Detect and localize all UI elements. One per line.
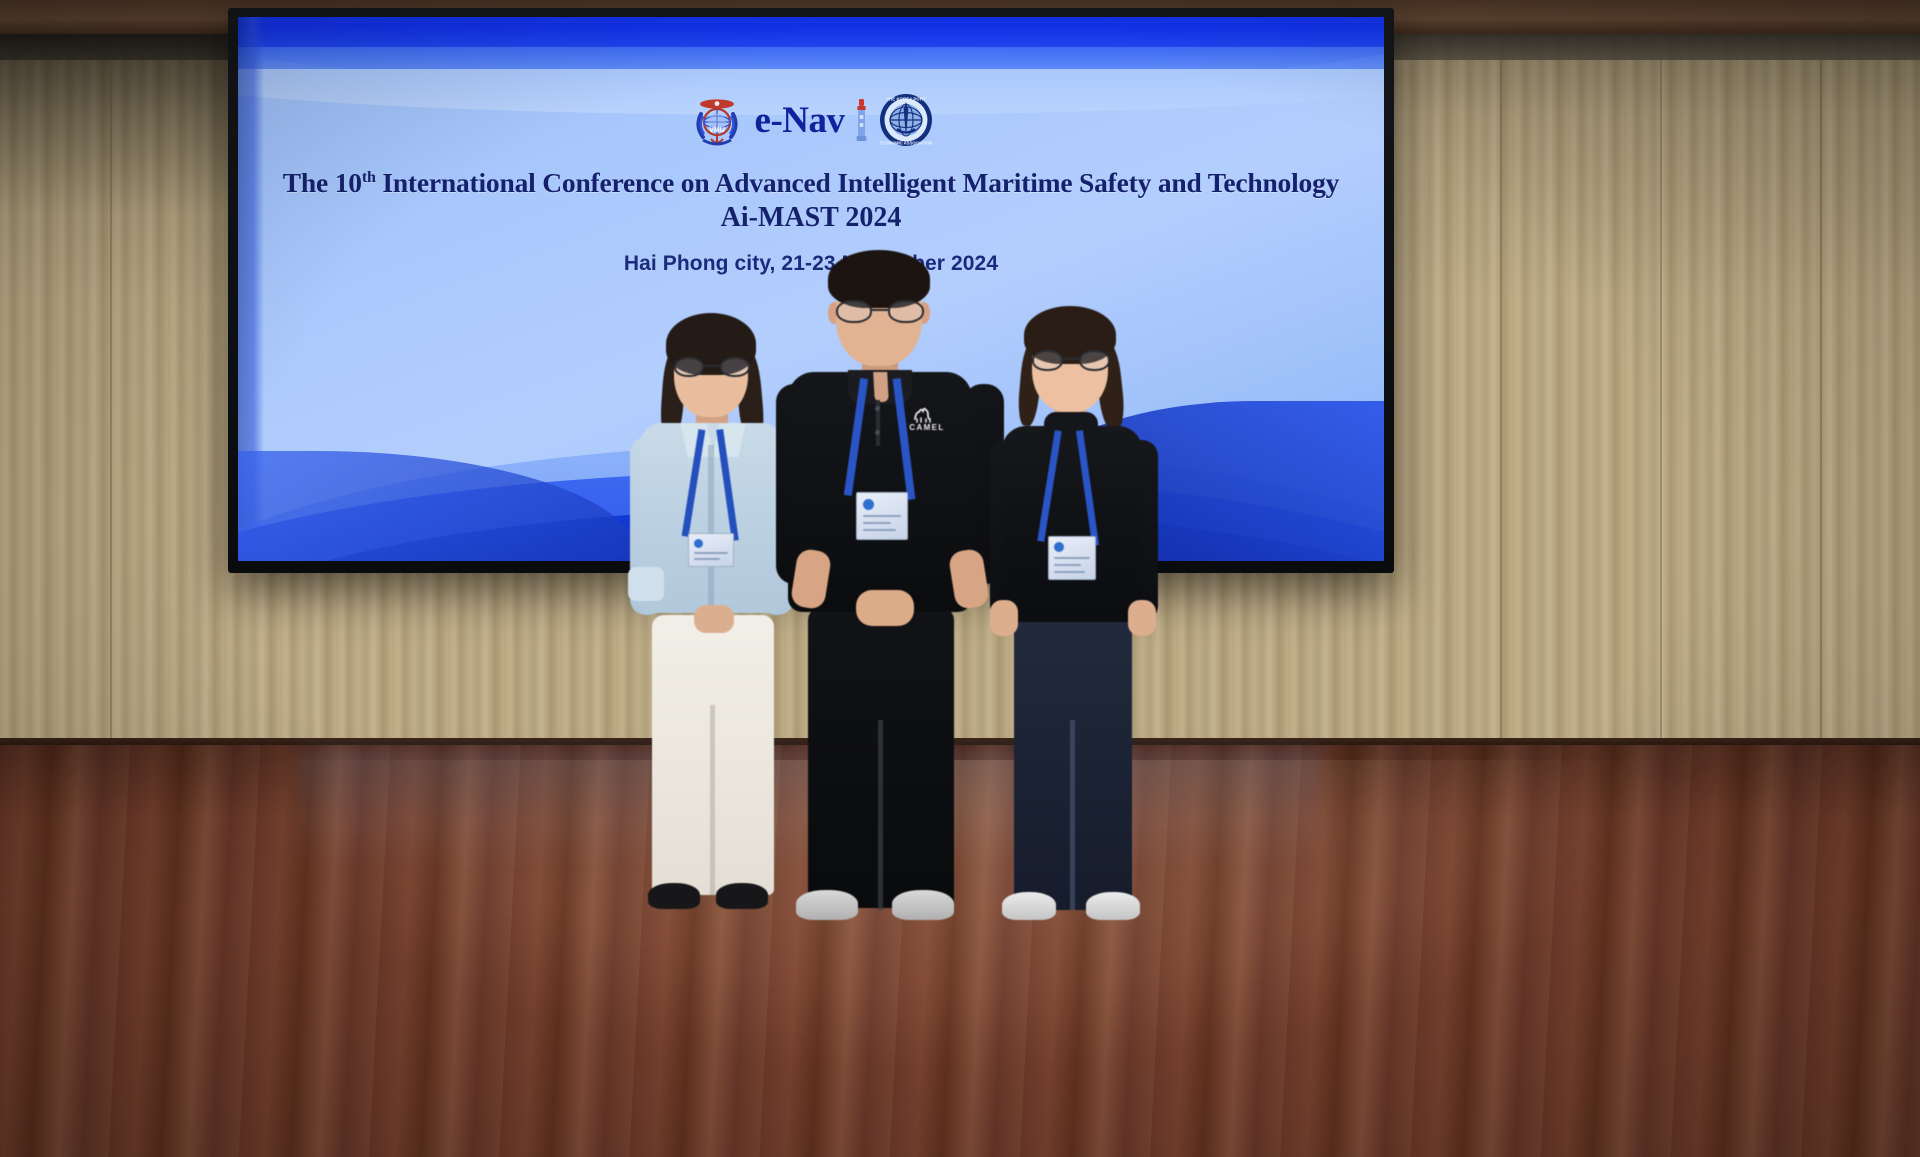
enav-wordmark: e-Nav — [755, 102, 845, 139]
lighthouse-icon — [854, 97, 869, 143]
glasses — [1032, 350, 1110, 372]
slide-logo-row: VMU e-Nav — [238, 91, 1384, 149]
glasses-bridge — [1063, 358, 1079, 360]
trouser-seam — [710, 705, 715, 895]
slide-title-ordinal: th — [362, 169, 376, 186]
glasses-bridge — [704, 365, 720, 367]
turtleneck-torso — [1002, 426, 1142, 622]
conference-badge — [856, 492, 908, 540]
badge-text-line — [863, 515, 901, 517]
lens-right — [888, 300, 924, 323]
conference-badge — [1048, 536, 1096, 580]
glasses — [674, 357, 750, 379]
turtleneck-collar — [1044, 412, 1098, 438]
badge-text-line — [694, 558, 720, 560]
shoe-right — [716, 883, 768, 909]
camel-brand-text: CAMEL — [904, 423, 950, 432]
svg-text:THE KOREA PORT: THE KOREA PORT — [887, 96, 926, 101]
glasses-bridge — [872, 309, 888, 311]
lens-left — [836, 300, 872, 323]
collar-opening — [873, 372, 889, 402]
badge-logo-icon — [863, 499, 874, 510]
shoe-left — [648, 883, 700, 909]
vmu-emblem-icon: VMU — [689, 92, 745, 148]
kpea-emblem-icon: THE KOREA PORT ECONOMIC ASSOCIATION — [879, 93, 933, 147]
polo-button — [875, 430, 880, 435]
svg-text:ECONOMIC ASSOCIATION: ECONOMIC ASSOCIATION — [880, 141, 933, 146]
clasped-hands — [856, 590, 914, 626]
slide-title: The 10th International Conference on Adv… — [238, 165, 1384, 200]
clasped-hands — [694, 605, 734, 633]
conference-photo-scene: VMU e-Nav — [0, 0, 1920, 1157]
badge-text-line — [863, 529, 896, 531]
slide-subtitle: Ai-MAST 2024 — [238, 202, 1384, 234]
rolled-cuff — [628, 567, 664, 601]
polo-button — [875, 406, 880, 411]
lens-left — [674, 357, 704, 377]
jeans-seam — [1070, 720, 1075, 910]
svg-text:VMU: VMU — [709, 127, 725, 134]
badge-text-line — [1054, 557, 1090, 559]
lens-left — [1032, 350, 1063, 371]
slide-title-prefix: The 10 — [283, 167, 362, 198]
badge-logo-icon — [1054, 542, 1064, 552]
badge-text-line — [863, 522, 891, 524]
badge-logo-icon — [694, 539, 703, 548]
lens-right — [1079, 350, 1110, 371]
badge-text-line — [1054, 564, 1081, 566]
camel-brand-icon — [912, 402, 934, 424]
person-center: CAMEL — [770, 250, 1010, 940]
sneaker-right — [1086, 892, 1140, 920]
sneaker-left — [1002, 892, 1056, 920]
glasses — [836, 300, 924, 324]
lens-right — [720, 357, 750, 377]
sneaker-right — [892, 890, 954, 920]
person-right — [978, 300, 1178, 940]
sneaker-left — [796, 890, 858, 920]
hand-right — [1128, 600, 1156, 636]
badge-text-line — [694, 552, 728, 554]
hand-left — [990, 600, 1018, 636]
shirt-placket — [708, 445, 714, 613]
slide-content: VMU e-Nav — [238, 17, 1384, 276]
slide-title-rest: International Conference on Advanced Int… — [376, 167, 1340, 198]
badge-text-line — [1054, 571, 1085, 573]
trouser-seam — [878, 720, 883, 910]
conference-badge — [688, 533, 734, 567]
